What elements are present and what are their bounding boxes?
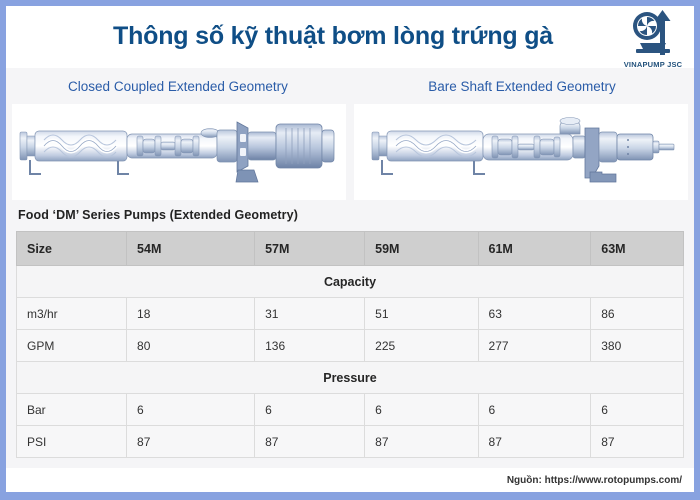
cell-pressure-psi-61m: 87 [478, 426, 591, 458]
source-credit: Nguồn: https://www.rotopumps.com/ [507, 475, 682, 486]
cell-capacity-m3hr-59m: 51 [365, 298, 478, 330]
table-header-size: Size [17, 232, 127, 266]
slide-frame: Thông số kỹ thuật bơm lòng trứng gà [0, 0, 700, 500]
table-row: m3/hr 18 31 51 63 86 [17, 298, 684, 330]
cell-capacity-gpm-57m: 136 [255, 330, 365, 362]
table-section-row: Pressure [17, 362, 684, 394]
section-label-capacity: Capacity [17, 266, 684, 298]
footer-bar: Nguồn: https://www.rotopumps.com/ [6, 468, 694, 492]
cell-capacity-m3hr-57m: 31 [255, 298, 365, 330]
table-row: GPM 80 136 225 277 380 [17, 330, 684, 362]
header-bar: Thông số kỹ thuật bơm lòng trứng gà [6, 6, 694, 68]
cell-pressure-bar-59m: 6 [365, 394, 478, 426]
spec-table: Size 54M 57M 59M 61M 63M Capacity m3/hr [16, 231, 684, 458]
progressive-cavity-pump-closed-coupled-icon [14, 116, 344, 188]
table-header-61m: 61M [478, 232, 591, 266]
cell-capacity-gpm-63m: 380 [591, 330, 684, 362]
row-label-bar: Bar [17, 394, 127, 426]
figure-caption-bare-shaft: Bare Shaft Extended Geometry [350, 70, 694, 104]
row-label-gpm: GPM [17, 330, 127, 362]
table-header-57m: 57M [255, 232, 365, 266]
cell-pressure-psi-63m: 87 [591, 426, 684, 458]
cell-pressure-bar-61m: 6 [478, 394, 591, 426]
table-row: PSI 87 87 87 87 87 [17, 426, 684, 458]
page-title: Thông số kỹ thuật bơm lòng trứng gà [113, 23, 587, 51]
progressive-cavity-pump-bare-shaft-icon [366, 116, 676, 188]
slide-sheet: Thông số kỹ thuật bơm lòng trứng gà [6, 6, 694, 492]
table-header-59m: 59M [365, 232, 478, 266]
pump-impeller-arrow-icon [630, 9, 676, 59]
figure-caption-closed-coupled: Closed Coupled Extended Geometry [6, 70, 350, 104]
cell-capacity-m3hr-63m: 86 [591, 298, 684, 330]
cell-capacity-gpm-54m: 80 [127, 330, 255, 362]
row-label-m3hr: m3/hr [17, 298, 127, 330]
cell-pressure-bar-54m: 6 [127, 394, 255, 426]
cell-capacity-gpm-61m: 277 [478, 330, 591, 362]
vinapump-logo: VINAPUMP JSC [622, 9, 684, 73]
spec-table-title: Food ‘DM’ Series Pumps (Extended Geometr… [16, 202, 684, 231]
section-label-pressure: Pressure [17, 362, 684, 394]
figure-bare-shaft [354, 104, 688, 200]
row-label-psi: PSI [17, 426, 127, 458]
table-header-54m: 54M [127, 232, 255, 266]
cell-pressure-bar-57m: 6 [255, 394, 365, 426]
figure-row [6, 104, 694, 200]
cell-capacity-m3hr-54m: 18 [127, 298, 255, 330]
table-row: Bar 6 6 6 6 6 [17, 394, 684, 426]
figure-caption-row: Closed Coupled Extended Geometry Bare Sh… [6, 70, 694, 104]
cell-capacity-gpm-59m: 225 [365, 330, 478, 362]
spec-table-block: Food ‘DM’ Series Pumps (Extended Geometr… [6, 202, 694, 458]
table-section-row: Capacity [17, 266, 684, 298]
table-header-63m: 63M [591, 232, 684, 266]
cell-pressure-psi-54m: 87 [127, 426, 255, 458]
illustration-band: Closed Coupled Extended Geometry Bare Sh… [6, 68, 694, 202]
table-header-row: Size 54M 57M 59M 61M 63M [17, 232, 684, 266]
cell-pressure-psi-57m: 87 [255, 426, 365, 458]
cell-pressure-psi-59m: 87 [365, 426, 478, 458]
figure-closed-coupled [12, 104, 346, 200]
cell-pressure-bar-63m: 6 [591, 394, 684, 426]
cell-capacity-m3hr-61m: 63 [478, 298, 591, 330]
